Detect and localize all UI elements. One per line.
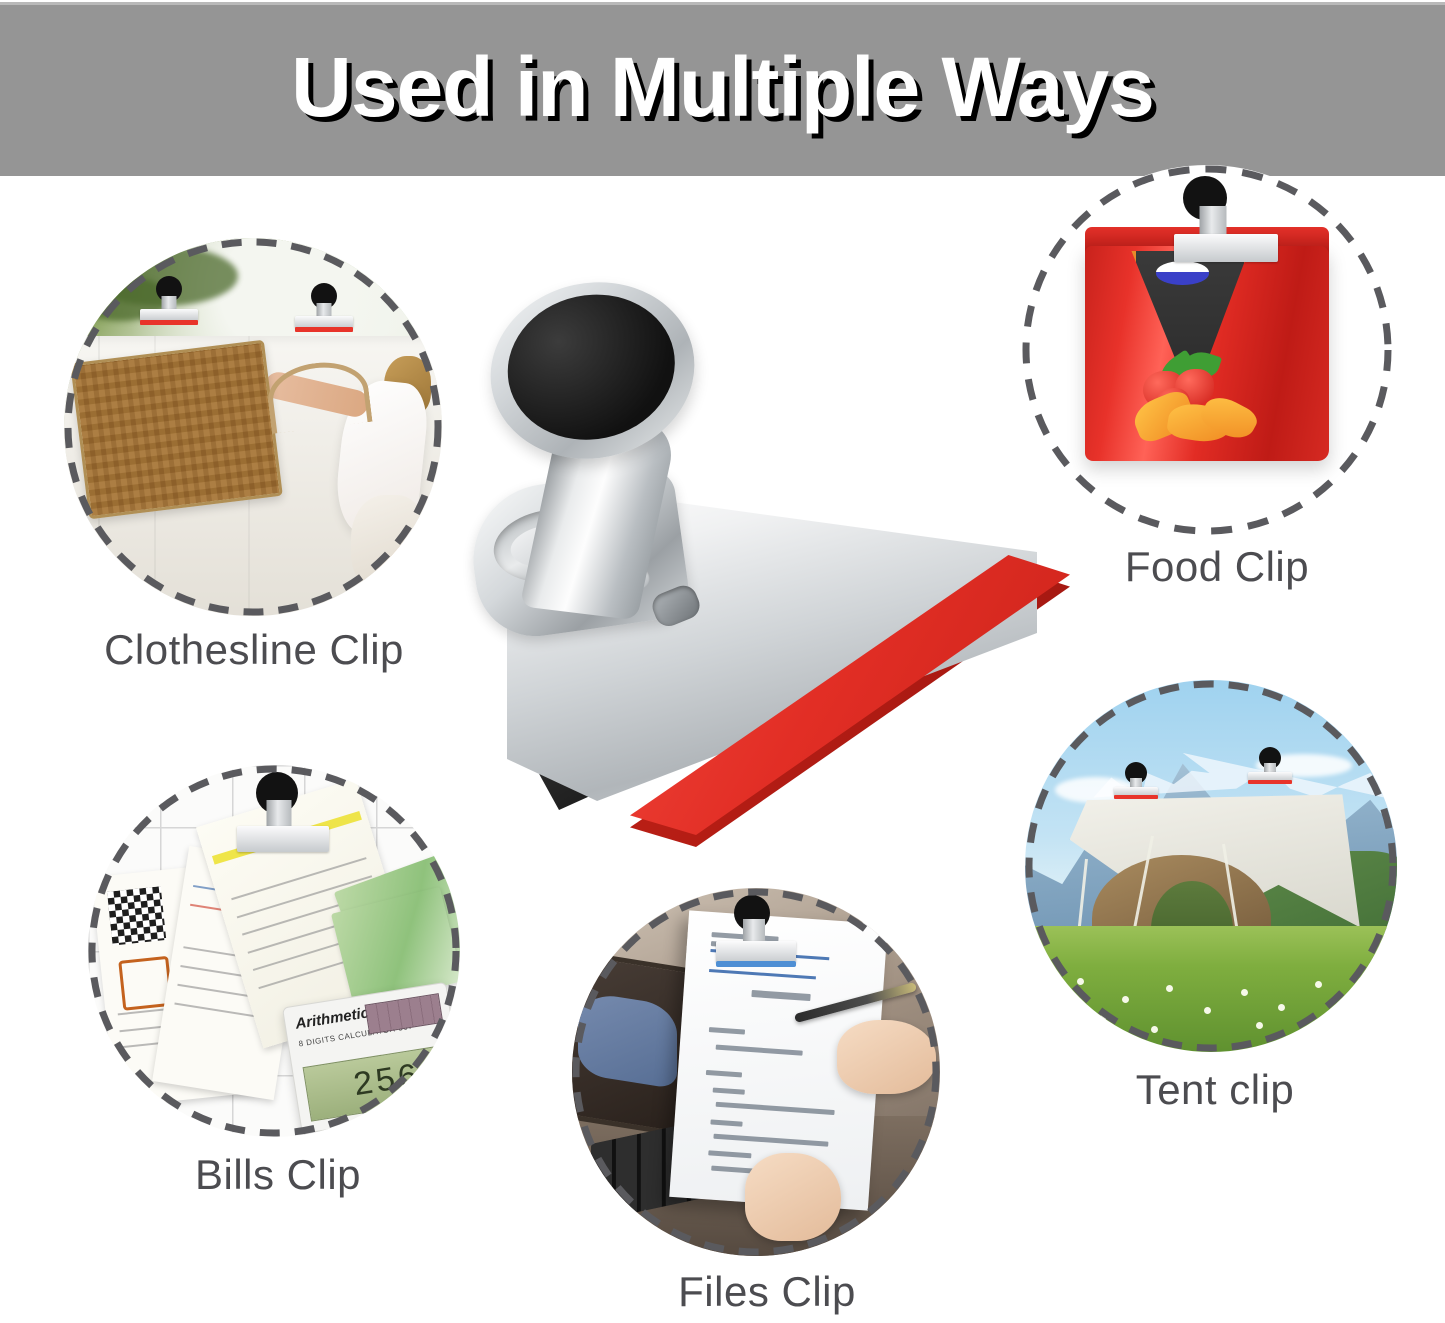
hand-holding-pen (837, 1020, 936, 1094)
hero-product-clip (455, 265, 1095, 865)
clothesline-photo (64, 238, 442, 616)
wicker-basket (70, 340, 283, 520)
hand-holding-page (745, 1153, 841, 1241)
overlay-clip-icon (1114, 762, 1158, 802)
clothesline-scene (64, 238, 442, 616)
overlay-clip-icon (1174, 176, 1278, 274)
use-case-bills[interactable]: Arithmetic 8 DIGITS CALCULATOR 567 2560 … (88, 765, 468, 1225)
files-photo (572, 888, 940, 1256)
overlay-clip-icon (295, 283, 353, 335)
flower-meadow (1025, 926, 1397, 1052)
infographic-canvas: Used in Multiple Ways (0, 0, 1445, 1323)
clip-magnet-housing (474, 264, 711, 478)
reflected-person (578, 990, 677, 1089)
calculator-display: 2560 (302, 1044, 455, 1121)
solar-panel (365, 993, 443, 1034)
overlay-clip-icon (237, 772, 329, 864)
clip-magnet-icon (494, 279, 688, 455)
overlay-clip-icon (140, 276, 198, 328)
caption-tent: Tent clip (1025, 1066, 1405, 1114)
clip-jaw (1174, 234, 1278, 262)
header-banner: Used in Multiple Ways (0, 2, 1445, 176)
clip-grip-strip (1248, 780, 1292, 784)
clip-grip-strip (1114, 795, 1158, 799)
bills-photo: Arithmetic 8 DIGITS CALCULATOR 567 2560 (88, 765, 460, 1137)
caption-bills: Bills Clip (88, 1151, 468, 1199)
calculator-value: 2560 (350, 1053, 452, 1106)
clip-grip-strip (140, 320, 198, 325)
calculator: Arithmetic 8 DIGITS CALCULATOR 567 2560 (282, 981, 460, 1134)
use-case-clothesline[interactable]: Clothesline Clip (64, 238, 444, 693)
clip-jaw (140, 309, 198, 321)
page-title: Used in Multiple Ways (291, 45, 1154, 129)
clip-grip-strip (295, 327, 353, 332)
overlay-clip-icon (1248, 747, 1292, 787)
use-case-files[interactable]: Files Clip (572, 888, 962, 1323)
qr-code-icon (107, 886, 166, 945)
overlay-clip-icon (716, 895, 796, 973)
caption-files: Files Clip (572, 1268, 962, 1316)
chip-bag (1085, 246, 1329, 461)
caption-clothesline: Clothesline Clip (64, 626, 444, 674)
clip-grip-strip (716, 961, 796, 967)
clip-jaw (716, 941, 796, 963)
child-figure (351, 495, 427, 593)
clip-jaw (237, 826, 329, 852)
calculator-brand: Arithmetic (294, 1004, 370, 1032)
